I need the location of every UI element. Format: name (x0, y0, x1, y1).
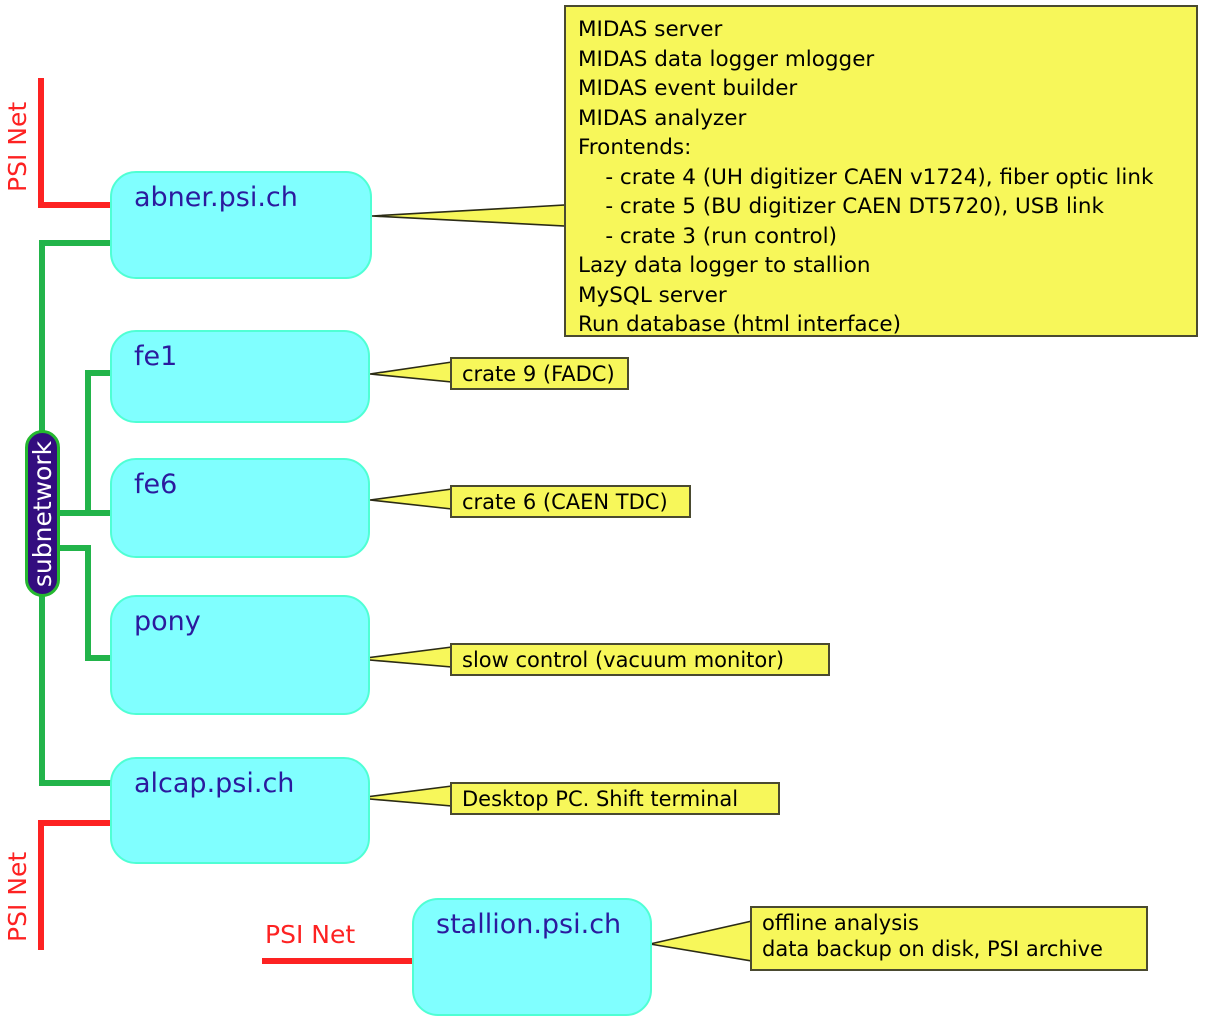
leader-fe1 (370, 362, 452, 382)
note-pony: slow control (vacuum monitor) (450, 643, 830, 676)
note-stallion: offline analysis data backup on disk, PS… (750, 906, 1148, 971)
note-fe6: crate 6 (CAEN TDC) (450, 485, 691, 518)
node-fe6[interactable]: fe6 (110, 458, 370, 558)
node-fe6-label: fe6 (134, 469, 177, 501)
psi-net-wire-bottom (41, 823, 112, 950)
psi-net-label-stallion: PSI Net (265, 921, 355, 949)
psi-net-label-bottom-text: PSI Net (3, 852, 32, 942)
note-alcap: Desktop PC. Shift terminal (450, 782, 780, 815)
node-fe1-label: fe1 (134, 341, 177, 373)
node-abner-label: abner.psi.ch (134, 182, 298, 214)
psi-net-wire-top (41, 78, 112, 205)
leader-pony (358, 647, 452, 667)
node-pony-label: pony (134, 606, 201, 638)
node-alcap[interactable]: alcap.psi.ch (110, 757, 370, 864)
node-fe1[interactable]: fe1 (110, 330, 370, 423)
leader-alcap (358, 786, 452, 806)
note-abner: MIDAS server MIDAS data logger mlogger M… (564, 5, 1198, 337)
network-diagram: PSI Net PSI Net PSI Net subnetwork abner… (0, 0, 1212, 1016)
node-stallion[interactable]: stallion.psi.ch (412, 898, 652, 1016)
note-fe1: crate 9 (FADC) (450, 357, 629, 390)
leader-stallion (650, 921, 752, 961)
node-abner[interactable]: abner.psi.ch (110, 171, 372, 279)
psi-net-label-bottom: PSI Net (4, 852, 32, 942)
leader-fe6 (370, 489, 452, 509)
node-stallion-label: stallion.psi.ch (436, 909, 621, 941)
subnetwork-label: subnetwork (29, 440, 57, 586)
node-pony[interactable]: pony (110, 595, 370, 715)
subnetwork-pill[interactable]: subnetwork (25, 430, 60, 597)
psi-net-label-top: PSI Net (4, 102, 32, 192)
node-alcap-label: alcap.psi.ch (134, 768, 294, 800)
leader-abner (372, 205, 565, 226)
psi-net-label-stallion-text: PSI Net (265, 920, 355, 949)
psi-net-label-top-text: PSI Net (3, 102, 32, 192)
